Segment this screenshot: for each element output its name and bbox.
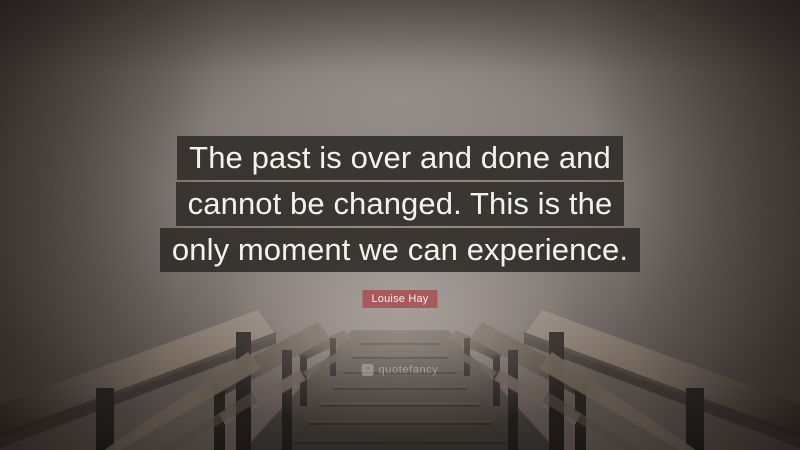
quote-line-3: only moment we can experience. — [160, 228, 640, 272]
railing-right-near — [524, 310, 800, 450]
railing-left-near — [0, 310, 276, 450]
quote-poster: The past is over and done and cannot be … — [0, 0, 800, 450]
author-badge: Louise Hay — [362, 290, 437, 308]
watermark-label: quotefancy — [379, 364, 439, 376]
quote-mark-icon: “ — [362, 364, 374, 376]
quote-line-2: cannot be changed. This is the — [176, 182, 625, 226]
quote-text-block: The past is over and done and cannot be … — [0, 136, 800, 272]
watermark: “ quotefancy — [362, 364, 439, 376]
quote-line-1: The past is over and done and — [177, 136, 623, 180]
